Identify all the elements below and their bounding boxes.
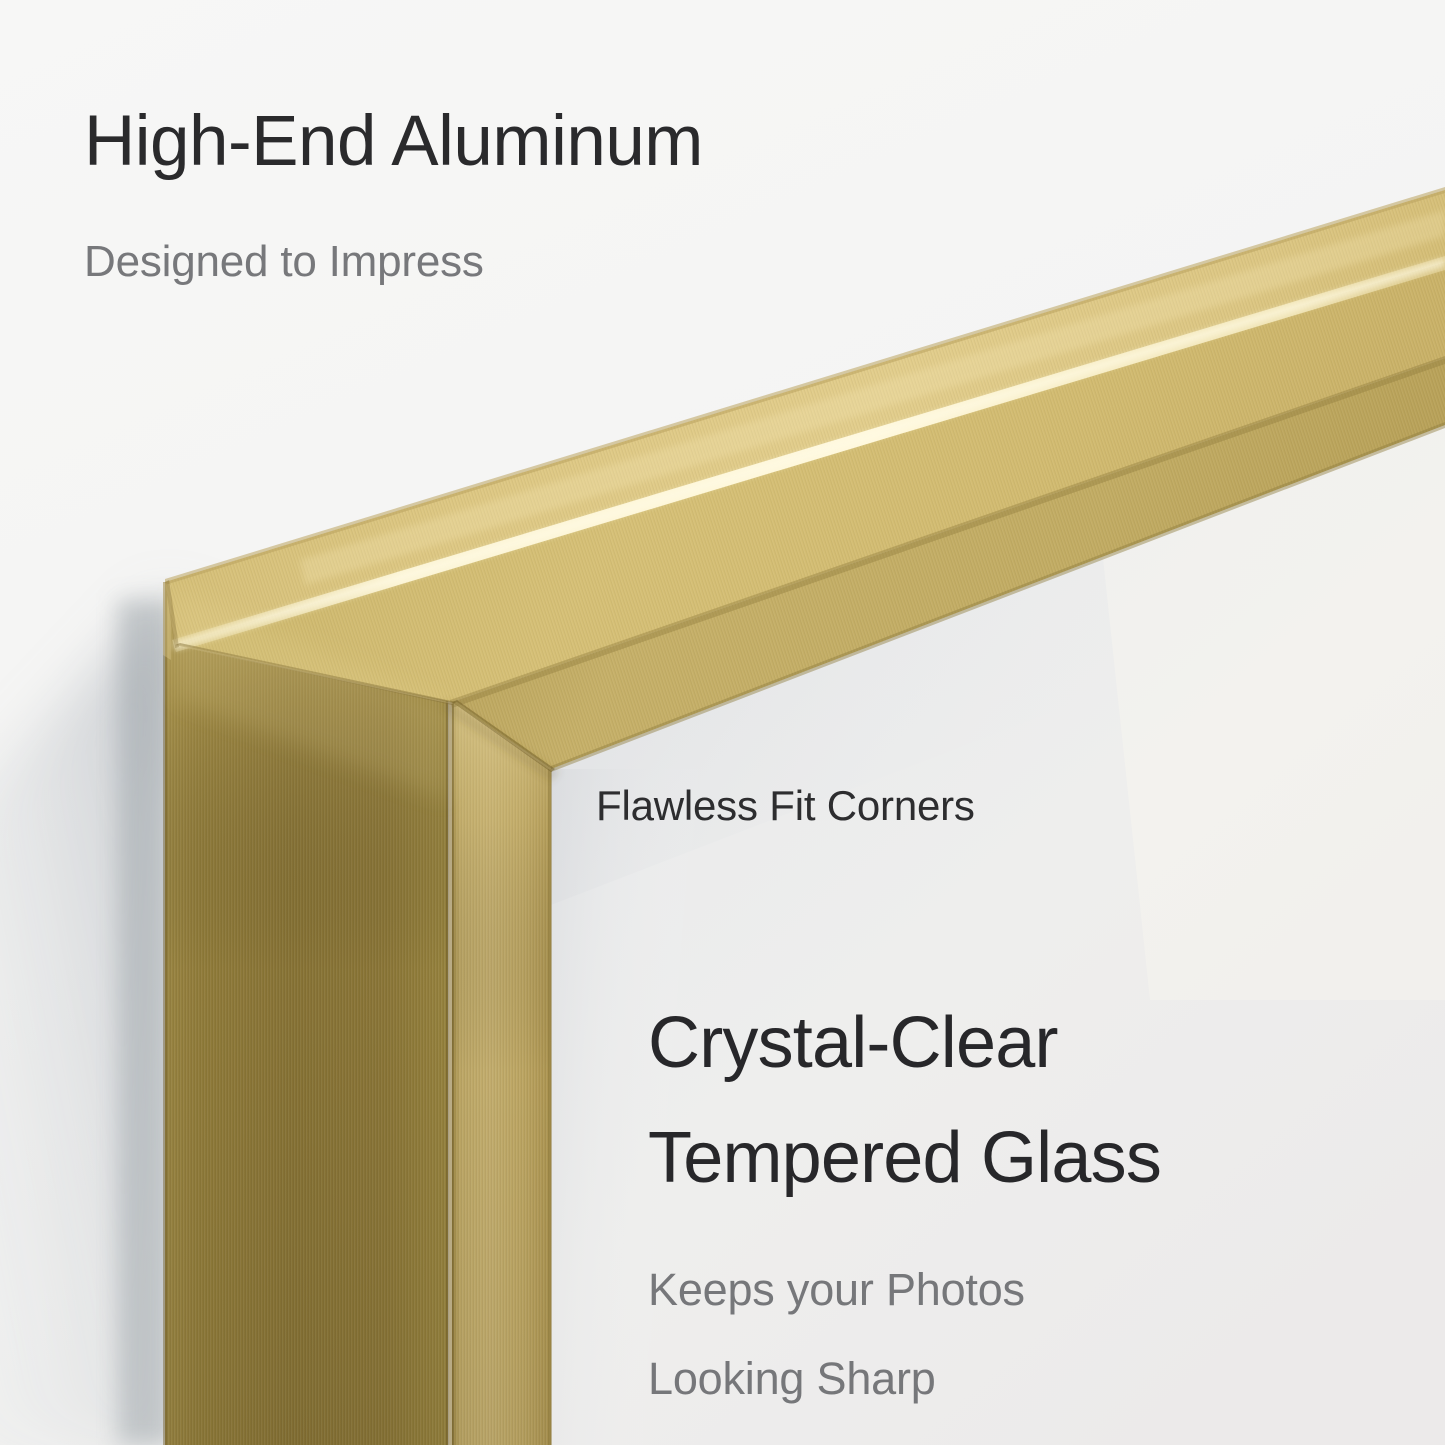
corners-callout-label: Flawless Fit Corners	[596, 782, 975, 830]
product-feature-image: High-End Aluminum Designed to Impress Fl…	[0, 0, 1445, 1445]
glass-subtitle-line2: Looking Sharp	[648, 1353, 1161, 1406]
glass-subtitle-line1: Keeps your Photos	[648, 1234, 1161, 1317]
headline-block: High-End Aluminum Designed to Impress	[84, 68, 703, 322]
page-subtitle: Designed to Impress	[84, 215, 703, 286]
glass-title-line2: Tempered Glass	[648, 1119, 1161, 1198]
page-title: High-End Aluminum	[84, 104, 703, 179]
glass-callout-block: Crystal-Clear Tempered Glass Keeps your …	[648, 968, 1161, 1442]
glass-title-line1: Crystal-Clear	[648, 1004, 1161, 1083]
